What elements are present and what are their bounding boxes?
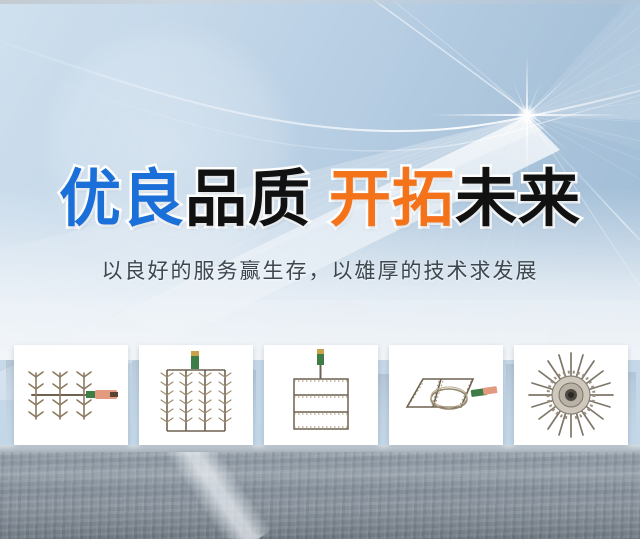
banner-top-edge (0, 0, 640, 4)
product-card-strip (14, 345, 628, 445)
rack-flat-panel-icon (264, 345, 378, 445)
ground-sheen (0, 461, 640, 491)
concrete-ground (0, 445, 640, 539)
rack-ring-frame-icon (389, 345, 503, 445)
rack-radial-star-icon (514, 345, 628, 445)
flare-core (516, 104, 538, 126)
subtitle: 以良好的服务赢生存，以雄厚的技术求发展 (0, 256, 640, 288)
headline-part-3: 开拓 (329, 165, 455, 234)
headline: 优良品质开拓未来 (0, 161, 640, 239)
headline-part-4: 未来 (455, 165, 581, 234)
product-card[interactable] (389, 345, 503, 445)
ground-texture (0, 445, 640, 539)
headline-part-2: 品质 (185, 165, 311, 234)
promotional-banner: 优良品质开拓未来 以良好的服务赢生存，以雄厚的技术求发展 (0, 0, 640, 539)
headline-part-1: 优良 (59, 165, 185, 234)
product-card[interactable] (264, 345, 378, 445)
product-card[interactable] (514, 345, 628, 445)
product-card[interactable] (14, 345, 128, 445)
product-card[interactable] (139, 345, 253, 445)
rack-branched-icon (14, 345, 128, 445)
rack-double-row-icon (139, 345, 253, 445)
ground-horizon-line (0, 445, 640, 452)
